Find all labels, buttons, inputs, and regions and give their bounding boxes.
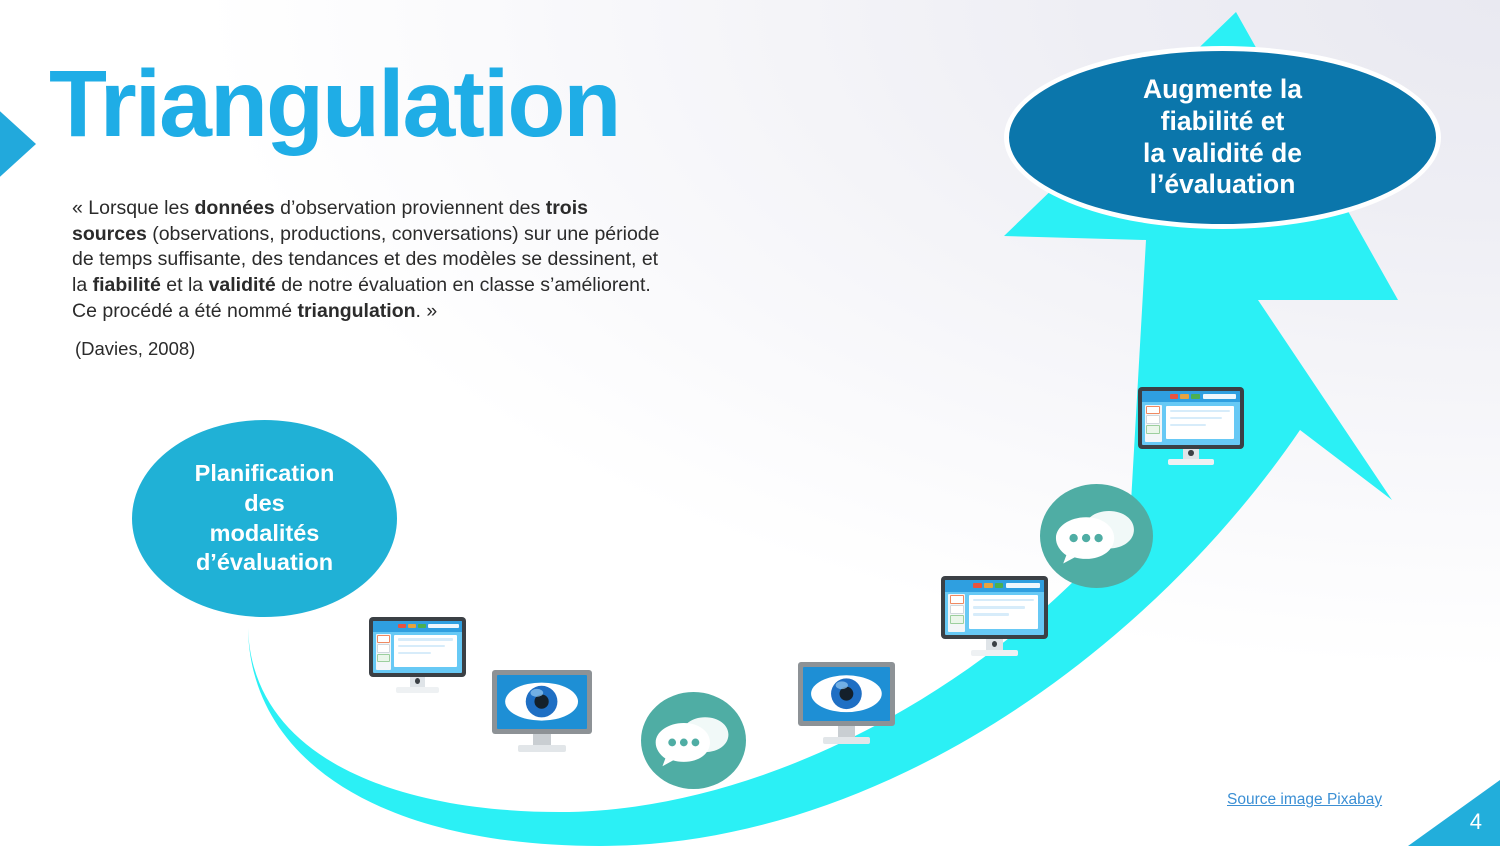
monitor-document-icon: [369, 617, 466, 700]
callout-fiabilite-validite[interactable]: Augmente lafiabilité etla validité del’é…: [1004, 46, 1441, 229]
corner-triangle-decoration: [1408, 780, 1500, 846]
source-image-link[interactable]: Source image Pixabay: [1227, 791, 1382, 809]
quote-citation: (Davies, 2008): [75, 338, 195, 360]
callout-planification-text: Planificationdesmodalitésd’évaluation: [195, 459, 335, 577]
monitor-eye-icon: [798, 662, 895, 748]
speech-bubbles-icon: [1040, 484, 1153, 588]
page-title: Triangulation: [49, 57, 619, 152]
slide-canvas: Triangulation « Lorsque les données d’ob…: [0, 0, 1500, 846]
callout-fiabilite-validite-text: Augmente lafiabilité etla validité del’é…: [1143, 74, 1302, 201]
callout-planification[interactable]: Planificationdesmodalitésd’évaluation: [128, 416, 401, 621]
page-number: 4: [1470, 809, 1482, 835]
monitor-document-icon: [1138, 387, 1244, 473]
quote-text: « Lorsque les données d’observation prov…: [72, 196, 662, 325]
monitor-eye-icon: [492, 670, 592, 756]
speech-bubbles-icon: [641, 692, 746, 789]
monitor-document-icon: [941, 576, 1048, 664]
